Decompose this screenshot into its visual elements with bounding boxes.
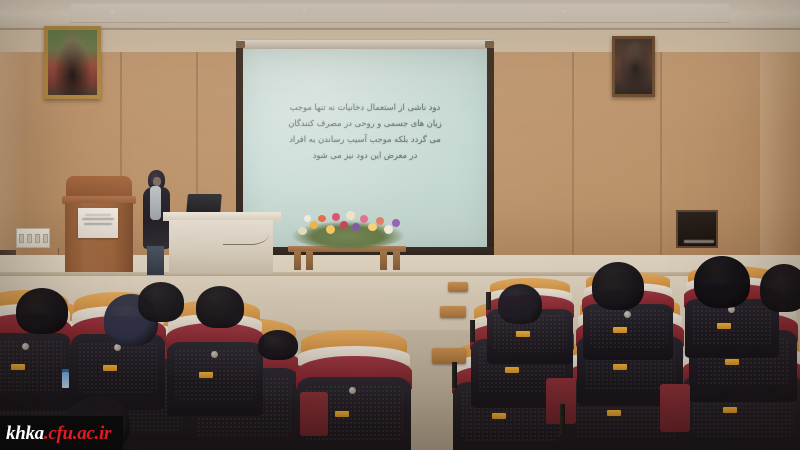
attendee-head — [196, 286, 244, 328]
wooden-podium — [62, 176, 136, 272]
seat-writing-tablet[interactable] — [440, 306, 466, 318]
laptop — [186, 194, 222, 214]
attendee-head — [760, 264, 800, 312]
seat-leg — [560, 404, 565, 434]
seat-armrest[interactable] — [660, 384, 690, 432]
attendee-head — [258, 330, 298, 360]
slide-line: می گردد بلکه موجب آسیب رساندن به افراد — [253, 131, 477, 147]
slide-line: در معرض این دود نیز می شود — [253, 147, 477, 163]
screen-roller-bar — [238, 40, 492, 49]
portrait-right — [612, 36, 655, 97]
seat-number-tag — [613, 327, 627, 333]
head-covering — [498, 284, 542, 324]
seat-writing-tablet[interactable] — [432, 348, 466, 364]
blossom — [332, 213, 340, 221]
seat-number-tag — [613, 364, 627, 370]
seat-armrest[interactable] — [300, 392, 328, 436]
seat-leg — [486, 292, 491, 310]
presenter-lower — [147, 246, 164, 275]
portrait-left — [44, 26, 101, 99]
blossom — [360, 215, 368, 223]
sign-line — [85, 214, 111, 216]
seat-number-tag — [335, 411, 349, 417]
seat-number-tag — [103, 365, 117, 371]
ceiling-light-icon — [300, 8, 309, 12]
seat-writing-tablet[interactable] — [448, 282, 468, 292]
watermark-secondary: .cfu.ac.ir — [44, 424, 111, 443]
wood-panel-seam — [660, 52, 662, 272]
blossom — [376, 217, 384, 225]
slide-line: زیان های جسمی و روحی در مصرف کنندگان — [253, 115, 477, 131]
ceiling — [0, 0, 800, 30]
blossom — [304, 215, 311, 222]
blossom — [340, 221, 348, 229]
site-watermark: khka .cfu.ac.ir — [0, 416, 123, 450]
head-covering — [760, 264, 800, 312]
seat-number-tag — [505, 367, 519, 373]
switch-toggle[interactable] — [43, 234, 48, 243]
head-covering — [16, 288, 68, 334]
seat-mesh — [0, 340, 65, 393]
attendee-head — [498, 284, 542, 324]
blossom — [384, 225, 393, 234]
wall-pilaster — [760, 52, 800, 272]
ceiling-light-icon — [108, 10, 117, 14]
blossom — [310, 221, 318, 229]
podium-top — [66, 176, 132, 198]
light-switch-plate[interactable] — [16, 228, 50, 248]
presenter-scarf — [150, 186, 161, 220]
podium-sign — [78, 208, 118, 238]
blossom — [392, 219, 400, 227]
seat-leg — [470, 320, 475, 342]
bench-leg — [306, 251, 313, 270]
water-bottle — [62, 372, 69, 388]
blossom — [298, 227, 307, 235]
blossom — [352, 223, 360, 231]
blossom — [368, 223, 377, 231]
slide-text: دود ناشی از استعمال دخانیات نه تنها موجب… — [253, 99, 477, 163]
attendee-head — [138, 282, 184, 322]
seat-knob — [624, 311, 631, 318]
floral-arrangement — [292, 201, 404, 249]
portrait-left-image — [48, 30, 97, 95]
head-covering — [592, 262, 644, 310]
flower-bench — [288, 246, 406, 270]
head-covering — [196, 286, 244, 328]
portrait-right-image — [615, 39, 652, 94]
switch-toggle[interactable] — [27, 234, 32, 243]
blossom — [318, 215, 326, 222]
wood-panel-seam — [572, 52, 574, 272]
switch-toggle[interactable] — [35, 234, 40, 243]
attendee-head — [16, 288, 68, 334]
seat-number-tag — [723, 407, 737, 413]
seat-number-tag — [516, 331, 530, 337]
wall-speaker — [676, 210, 718, 248]
seat-number-tag — [607, 410, 621, 416]
table-cable — [223, 218, 269, 245]
ceiling-recess — [70, 4, 730, 23]
seat-number-tag — [492, 413, 506, 419]
stage-edge — [0, 272, 800, 276]
speaker-label — [684, 240, 714, 243]
head-covering — [258, 330, 298, 360]
screen-roller-cap — [485, 41, 494, 48]
head-covering — [694, 256, 750, 308]
seat-leg — [452, 362, 457, 388]
watermark-primary: khka — [6, 424, 44, 443]
presenter-table — [163, 212, 281, 274]
auditorium-photo: دود ناشی از استعمال دخانیات نه تنها موجب… — [0, 0, 800, 450]
screen-edge-right — [487, 48, 494, 256]
sign-line — [84, 223, 112, 225]
bench-leg — [380, 251, 387, 270]
bench-leg — [393, 251, 400, 270]
sign-line — [82, 218, 114, 220]
switch-toggle[interactable] — [19, 234, 24, 243]
screen-roller-cap — [236, 41, 245, 48]
blossom — [326, 225, 335, 234]
head-covering — [138, 282, 184, 322]
presenter-face — [153, 177, 161, 186]
seat-number-tag — [717, 323, 731, 329]
blossom — [346, 211, 355, 220]
attendee-head — [592, 262, 644, 310]
ceiling-light-icon — [560, 9, 569, 13]
slide-line: دود ناشی از استعمال دخانیات نه تنها موجب — [253, 99, 477, 115]
attendee-head — [694, 256, 750, 308]
seat-number-tag — [199, 372, 213, 378]
bench-leg — [294, 251, 301, 270]
seat-number-tag — [725, 359, 739, 365]
seat-number-tag — [11, 364, 25, 370]
